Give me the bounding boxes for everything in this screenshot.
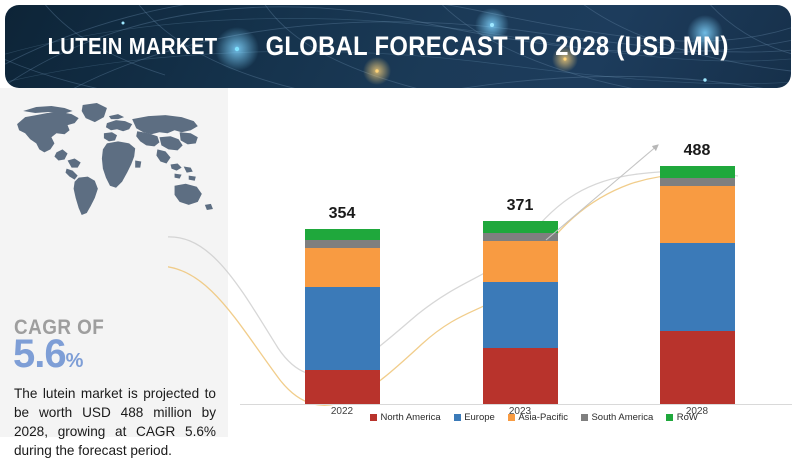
legend-item-europe[interactable]: Europe	[454, 412, 495, 423]
segment-north-america-2028[interactable]	[660, 331, 735, 404]
stacked-bar-chart: 354 2022 371 2023 5.6%	[228, 88, 800, 437]
summary-panel: CAGR OF 5.6% The lutein market is projec…	[0, 88, 228, 437]
x-axis-line	[240, 404, 792, 405]
legend-item-south-america[interactable]: South America	[581, 412, 653, 423]
legend-item-row[interactable]: RoW	[666, 412, 698, 423]
legend-item-north-america[interactable]: North America	[370, 412, 441, 423]
segment-row-2022[interactable]	[305, 229, 380, 240]
segment-north-america-2023[interactable]	[483, 348, 558, 404]
cagr-number: 5.6	[13, 332, 66, 376]
segment-south-america-2023[interactable]	[483, 233, 558, 241]
segment-asia-pacific-2023[interactable]	[483, 241, 558, 282]
summary-text: The lutein market is projected to be wor…	[14, 384, 216, 460]
chart-legend: North America Europe Asia-Pacific South …	[370, 412, 790, 423]
legend-swatch-europe	[454, 414, 461, 421]
infographic-root: LUTEIN MARKET GLOBAL FORECAST TO 2028 (U…	[0, 0, 800, 437]
segment-south-america-2022[interactable]	[305, 240, 380, 248]
title-lead: LUTEIN MARKET	[47, 33, 217, 60]
legend-label-south-america: South America	[591, 412, 653, 423]
header-banner: LUTEIN MARKET GLOBAL FORECAST TO 2028 (U…	[5, 5, 791, 88]
bar-total-2023: 371	[475, 197, 565, 215]
segment-asia-pacific-2028[interactable]	[660, 186, 735, 243]
segment-asia-pacific-2022[interactable]	[305, 248, 380, 287]
legend-swatch-asia-pacific	[508, 414, 515, 421]
bar-total-2022: 354	[297, 205, 387, 223]
page-title: LUTEIN MARKET GLOBAL FORECAST TO 2028 (U…	[5, 5, 791, 88]
bar-2022[interactable]	[305, 229, 380, 404]
legend-label-north-america: North America	[381, 412, 441, 423]
bar-2023[interactable]	[483, 221, 558, 404]
segment-europe-2028[interactable]	[660, 243, 735, 331]
legend-item-asia-pacific[interactable]: Asia-Pacific	[508, 412, 568, 423]
legend-label-asia-pacific: Asia-Pacific	[518, 412, 568, 423]
bar-2028[interactable]	[660, 166, 735, 404]
legend-label-row: RoW	[677, 412, 698, 423]
legend-swatch-row	[666, 414, 673, 421]
title-main: GLOBAL FORECAST TO 2028 (USD MN)	[265, 31, 728, 62]
segment-europe-2022[interactable]	[305, 287, 380, 370]
segment-row-2023[interactable]	[483, 221, 558, 233]
legend-swatch-north-america	[370, 414, 377, 421]
segment-europe-2023[interactable]	[483, 282, 558, 348]
legend-label-europe: Europe	[464, 412, 495, 423]
cagr-percent-sign: %	[66, 350, 84, 372]
bar-total-2028: 488	[652, 142, 742, 160]
world-map-icon	[8, 96, 220, 224]
segment-row-2028[interactable]	[660, 166, 735, 178]
segment-north-america-2022[interactable]	[305, 370, 380, 404]
legend-swatch-south-america	[581, 414, 588, 421]
cagr-value: 5.6%	[13, 334, 83, 374]
segment-south-america-2028[interactable]	[660, 178, 735, 186]
